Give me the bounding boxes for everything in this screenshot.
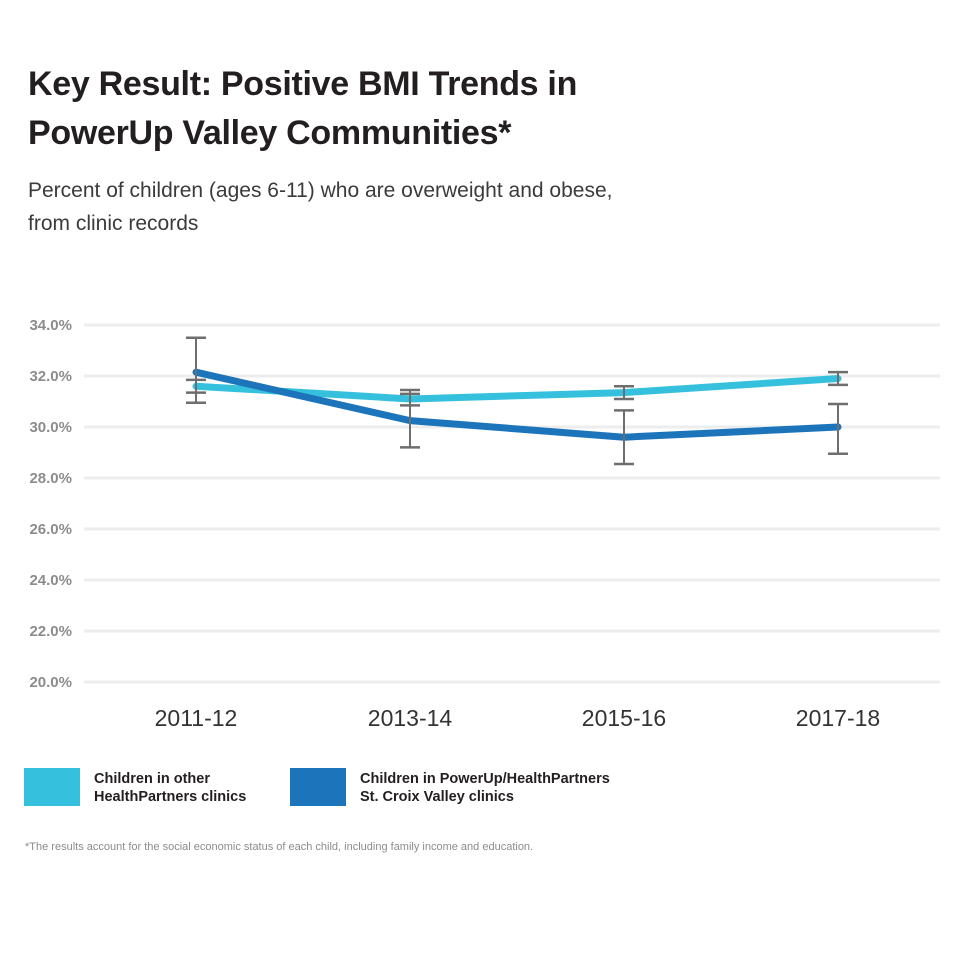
gridline xyxy=(84,324,940,327)
y-axis-tick-label: 34.0% xyxy=(29,317,72,334)
x-axis-tick-label: 2013-14 xyxy=(368,705,453,731)
legend-item-other-clinics[interactable]: Children in other HealthPartners clinics xyxy=(24,768,246,806)
gridline xyxy=(84,477,940,480)
x-axis-tick-label: 2011-12 xyxy=(155,705,238,731)
page-title: Key Result: Positive BMI Trends in Power… xyxy=(28,60,848,158)
chart-legend: Children in other HealthPartners clinics… xyxy=(24,768,934,812)
plot-area: 20.0%22.0%24.0%26.0%28.0%30.0%32.0%34.0%… xyxy=(0,300,960,750)
legend-swatch-other-clinics xyxy=(24,768,80,806)
y-axis-tick-labels: 20.0%22.0%24.0%26.0%28.0%30.0%32.0%34.0% xyxy=(29,317,72,691)
y-axis-tick-label: 22.0% xyxy=(29,623,72,640)
page-subtitle: Percent of children (ages 6-11) who are … xyxy=(28,174,848,240)
y-axis-tick-label: 20.0% xyxy=(29,674,72,691)
gridline xyxy=(84,528,940,531)
line-chart-svg: 20.0%22.0%24.0%26.0%28.0%30.0%32.0%34.0%… xyxy=(0,300,960,750)
chart-footnote: *The results account for the social econ… xyxy=(25,840,905,855)
x-axis-tick-label: 2017-18 xyxy=(796,705,880,731)
y-axis-tick-label: 28.0% xyxy=(29,470,72,487)
legend-label-other-clinics: Children in other HealthPartners clinics xyxy=(94,768,246,806)
gridline xyxy=(84,579,940,582)
x-axis-tick-label: 2015-16 xyxy=(582,705,666,731)
chart-page: Key Result: Positive BMI Trends in Power… xyxy=(0,0,960,960)
gridline xyxy=(84,630,940,633)
error-bars-group xyxy=(186,338,848,464)
chart-header: Key Result: Positive BMI Trends in Power… xyxy=(28,60,848,240)
y-axis-tick-label: 24.0% xyxy=(29,572,72,589)
legend-swatch-powerup-clinics xyxy=(290,768,346,806)
legend-item-powerup-clinics[interactable]: Children in PowerUp/HealthPartners St. C… xyxy=(290,768,610,806)
y-axis-tick-label: 32.0% xyxy=(29,368,72,385)
legend-label-powerup-clinics: Children in PowerUp/HealthPartners St. C… xyxy=(360,768,610,806)
y-axis-tick-label: 26.0% xyxy=(29,521,72,538)
gridline xyxy=(84,681,940,684)
x-axis-tick-labels: 2011-122013-142015-162017-18 xyxy=(155,705,881,731)
y-axis-tick-label: 30.0% xyxy=(29,419,72,436)
